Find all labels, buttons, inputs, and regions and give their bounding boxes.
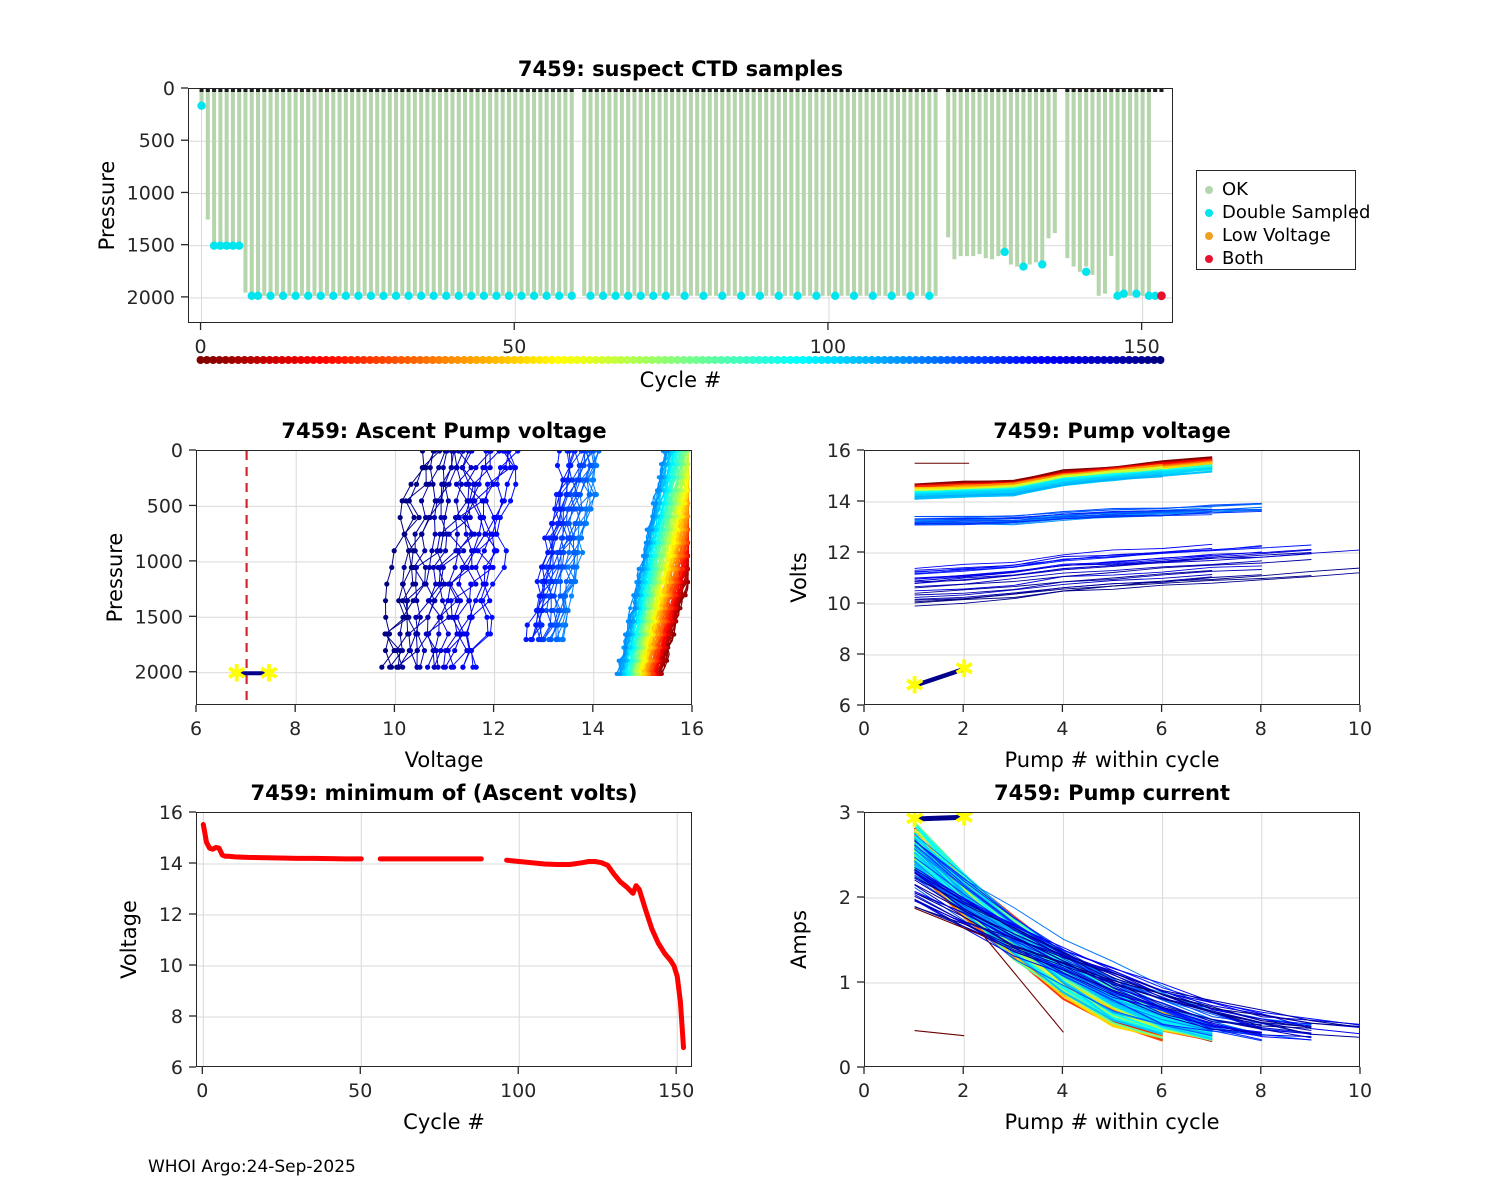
svg-text:16: 16 [159, 802, 183, 824]
legend-label-both: Both [1222, 248, 1264, 269]
svg-text:2: 2 [839, 887, 851, 909]
svg-text:8: 8 [839, 644, 851, 666]
svg-text:6: 6 [190, 718, 202, 740]
svg-text:1500: 1500 [127, 235, 175, 257]
svg-text:8: 8 [289, 718, 301, 740]
legend-marker-low-voltage [1205, 232, 1213, 240]
svg-text:0: 0 [839, 1057, 851, 1079]
svg-text:Pump # within cycle: Pump # within cycle [1005, 748, 1220, 772]
svg-text:150: 150 [1123, 336, 1159, 358]
svg-text:10: 10 [1348, 1080, 1372, 1102]
svg-text:14: 14 [581, 718, 605, 740]
svg-text:2: 2 [957, 718, 969, 740]
svg-text:12: 12 [159, 904, 183, 926]
svg-text:Cycle #: Cycle # [640, 368, 722, 392]
svg-text:Pressure: Pressure [103, 533, 127, 623]
legend-item-ok: OK [1205, 178, 1345, 201]
pump-voltage-axes: 02468106810121416Pump # within cycleVolt… [804, 440, 1424, 790]
svg-text:14: 14 [827, 491, 851, 513]
svg-text:6: 6 [1156, 1080, 1168, 1102]
svg-text:8: 8 [171, 1006, 183, 1028]
panel-ascent-pump-voltage: 7459: Ascent Pump voltage ✱✱ 68101214160… [196, 450, 692, 705]
svg-text:10: 10 [1348, 718, 1372, 740]
svg-text:2000: 2000 [135, 662, 183, 684]
svg-text:Cycle #: Cycle # [403, 1110, 485, 1134]
panel-pump-voltage: 7459: Pump voltage ✱✱ 02468106810121416P… [864, 450, 1360, 705]
svg-text:2: 2 [957, 1080, 969, 1102]
svg-text:0: 0 [163, 78, 175, 100]
svg-text:2000: 2000 [127, 287, 175, 309]
svg-text:Amps: Amps [787, 910, 811, 969]
svg-text:0: 0 [196, 1080, 208, 1102]
svg-text:1000: 1000 [127, 182, 175, 204]
svg-text:10: 10 [382, 718, 406, 740]
svg-text:150: 150 [658, 1080, 694, 1102]
svg-text:50: 50 [348, 1080, 372, 1102]
svg-text:16: 16 [680, 718, 704, 740]
svg-text:1000: 1000 [135, 551, 183, 573]
legend-item-double-sampled: Double Sampled [1205, 201, 1345, 224]
svg-text:50: 50 [502, 336, 526, 358]
minimum-ascent-volts-axes: 0501001506810121416Cycle #Voltage [126, 802, 746, 1152]
svg-text:14: 14 [159, 853, 183, 875]
svg-text:0: 0 [171, 440, 183, 462]
svg-text:16: 16 [827, 440, 851, 462]
ascent-pump-voltage-axes: 68101214160500100015002000VoltagePressur… [116, 440, 736, 790]
svg-text:500: 500 [147, 495, 183, 517]
svg-text:Voltage: Voltage [117, 900, 141, 979]
svg-text:12: 12 [827, 542, 851, 564]
svg-text:Pump # within cycle: Pump # within cycle [1005, 1110, 1220, 1134]
svg-text:0: 0 [195, 336, 207, 358]
legend-marker-both [1205, 255, 1213, 263]
svg-text:8: 8 [1255, 718, 1267, 740]
panel-pump-current: 7459: Pump current ✱✱ 02468100123Pump # … [864, 812, 1360, 1067]
svg-text:6: 6 [171, 1057, 183, 1079]
svg-text:4: 4 [1056, 718, 1068, 740]
legend-item-both: Both [1205, 247, 1345, 270]
svg-text:4: 4 [1056, 1080, 1068, 1102]
svg-text:0: 0 [858, 718, 870, 740]
svg-text:1: 1 [839, 972, 851, 994]
svg-text:6: 6 [1156, 718, 1168, 740]
svg-text:12: 12 [482, 718, 506, 740]
svg-text:100: 100 [810, 336, 846, 358]
footer-caption: WHOI Argo:24-Sep-2025 [148, 1157, 356, 1177]
svg-text:8: 8 [1255, 1080, 1267, 1102]
svg-text:Volts: Volts [787, 552, 811, 603]
legend-item-low-voltage: Low Voltage [1205, 224, 1345, 247]
svg-text:0: 0 [858, 1080, 870, 1102]
legend-label-ok: OK [1222, 179, 1248, 200]
panel-minimum-ascent-volts: 7459: minimum of (Ascent volts) 05010015… [196, 812, 692, 1067]
legend-label-double-sampled: Double Sampled [1222, 202, 1370, 223]
svg-text:6: 6 [839, 695, 851, 717]
svg-text:Pressure: Pressure [95, 161, 119, 251]
legend-suspect-ctd: OK Double Sampled Low Voltage Both [1196, 170, 1356, 270]
panel-suspect-ctd-samples: 7459: suspect CTD samples 05010015005001… [188, 88, 1173, 323]
svg-text:1500: 1500 [135, 606, 183, 628]
suspect-ctd-axes: 0501001500500100015002000Cycle #Pressure [128, 78, 1228, 408]
svg-text:100: 100 [500, 1080, 536, 1102]
svg-text:Voltage: Voltage [405, 748, 484, 772]
legend-marker-ok [1205, 186, 1213, 194]
figure-canvas: 7459: suspect CTD samples 05010015005001… [0, 0, 1500, 1200]
svg-text:3: 3 [839, 802, 851, 824]
svg-text:10: 10 [159, 955, 183, 977]
legend-label-low-voltage: Low Voltage [1222, 225, 1331, 246]
pump-current-axes: 02468100123Pump # within cycleAmps [804, 802, 1424, 1152]
legend-marker-double-sampled [1205, 209, 1213, 217]
svg-text:10: 10 [827, 593, 851, 615]
svg-text:500: 500 [139, 130, 175, 152]
